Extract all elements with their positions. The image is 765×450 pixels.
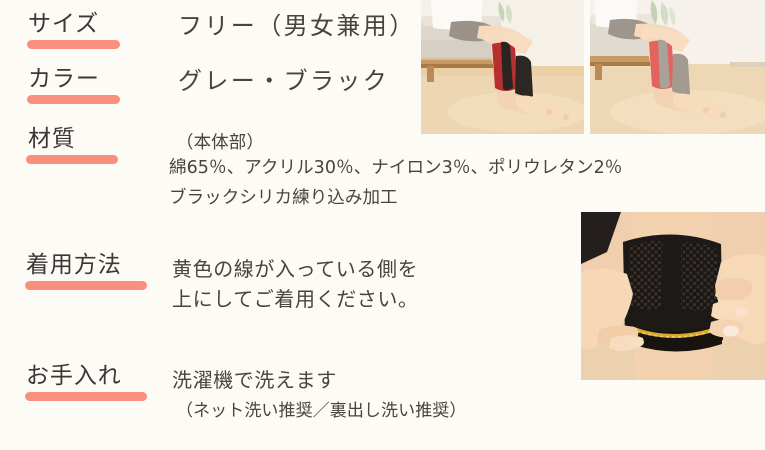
spec-value-care-line-1: 洗濯機で洗えます [172, 367, 337, 395]
photo-hands-black-supporter [581, 212, 765, 380]
spec-value-how-to-wear-line-1: 黄色の線が入っている側を [172, 256, 418, 284]
photo-leg-red-black [421, 0, 584, 134]
spec-underline-size [27, 40, 120, 49]
photo-hands-black-supporter-graphic [581, 212, 765, 380]
spec-label-material: 材質 [28, 128, 76, 151]
photo-leg-gray-red [590, 0, 765, 134]
photo-leg-red-black-graphic [421, 0, 584, 134]
spec-label-size: サイズ [28, 13, 99, 36]
spec-underline-care [25, 392, 147, 401]
spec-page: サイズ フリー（男女兼用） カラー グレー・ブラック 材質 （本体部） 綿65％… [0, 0, 765, 450]
spec-value-care-line-2: （ネット洗い推奨／裏出し洗い推奨） [176, 400, 466, 423]
spec-value-material-line-3: ブラックシリカ練り込み加工 [169, 186, 398, 210]
spec-value-material-line-1: （本体部） [176, 131, 264, 155]
spec-value-size-line-1: フリー（男女兼用） [178, 10, 416, 43]
spec-value-color-line-1: グレー・ブラック [178, 65, 389, 98]
spec-underline-material [26, 155, 118, 164]
spec-label-color: カラー [28, 68, 100, 91]
spec-value-material-line-2: 綿65％、アクリル30％、ナイロン3％、ポリウレタン2％ [169, 156, 622, 180]
spec-underline-color [27, 95, 120, 104]
spec-label-care: お手入れ [26, 365, 122, 388]
spec-underline-how-to-wear [25, 281, 147, 290]
spec-value-how-to-wear-line-2: 上にしてご着用ください。 [172, 286, 419, 314]
spec-label-how-to-wear: 着用方法 [26, 254, 122, 277]
photo-leg-gray-red-graphic [590, 0, 765, 134]
